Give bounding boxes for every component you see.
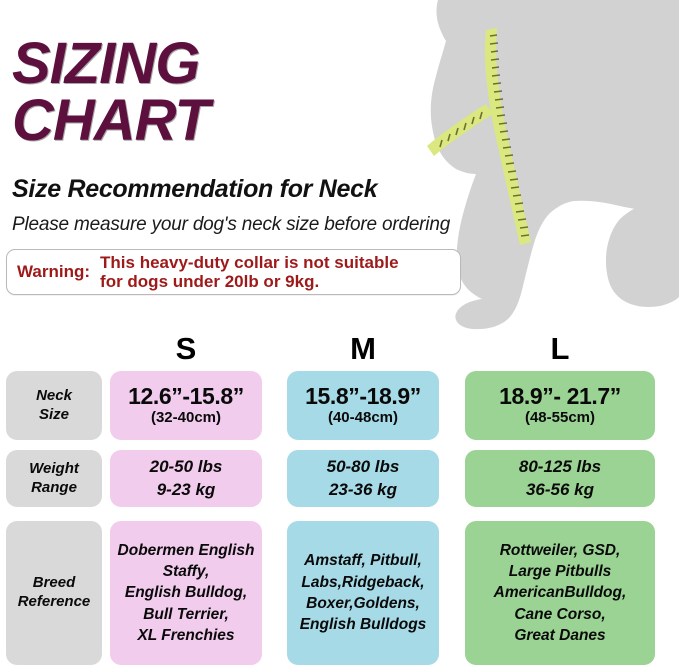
- cell-breed-reference-m-line-3: Boxer,Goldens,: [306, 593, 420, 614]
- warning-text-line-2: for dogs under 20lb or 9kg.: [100, 272, 399, 291]
- cell-weight-range-m: 50-80 lbs 23-36 kg: [287, 450, 439, 507]
- cell-breed-reference-l-line-5: Great Danes: [514, 625, 605, 646]
- cell-neck-size-m-main: 15.8”-18.9”: [305, 384, 421, 408]
- size-header-l: L: [465, 331, 655, 367]
- cell-neck-size-s-sub: (32-40cm): [151, 409, 221, 427]
- cell-breed-reference-l-line-1: Rottweiler, GSD,: [500, 540, 621, 561]
- row-label-breed-reference-line2: Reference: [18, 593, 91, 612]
- cell-neck-size-m: 15.8”-18.9” (40-48cm): [287, 371, 439, 440]
- cell-breed-reference-l-line-3: AmericanBulldog,: [494, 582, 627, 603]
- cell-weight-range-l: 80-125 lbs 36-56 kg: [465, 450, 655, 507]
- measuring-tape: [427, 28, 531, 245]
- size-header-row: S M L: [0, 331, 679, 365]
- size-header-m: M: [287, 331, 439, 367]
- cell-breed-reference-s: Dobermen English Staffy, English Bulldog…: [110, 521, 262, 665]
- dog-body-shape: [431, 0, 679, 330]
- cell-breed-reference-l: Rottweiler, GSD, Large Pitbulls American…: [465, 521, 655, 665]
- warning-text: This heavy-duty collar is not suitable f…: [90, 253, 399, 291]
- cell-weight-range-m-line2: 23-36 kg: [329, 479, 397, 501]
- cell-breed-reference-l-line-2: Large Pitbulls: [509, 561, 612, 582]
- measurement-note: Please measure your dog's neck size befo…: [12, 214, 450, 236]
- cell-weight-range-s: 20-50 lbs 9-23 kg: [110, 450, 262, 507]
- row-label-breed-reference: Breed Reference: [6, 521, 102, 665]
- sizing-chart-page: SIZING CHART Size Recommendation for Nec…: [0, 0, 679, 672]
- title-line-1: SIZING: [12, 36, 432, 93]
- row-label-neck-size-line1: Neck: [36, 387, 72, 406]
- cell-breed-reference-s-line-4: Bull Terrier,: [143, 604, 229, 625]
- cell-breed-reference-s-line-1: Dobermen English: [118, 540, 255, 561]
- cell-breed-reference-s-line-3: English Bulldog,: [125, 582, 247, 603]
- row-label-neck-size-line2: Size: [39, 406, 69, 425]
- warning-box: Warning: This heavy-duty collar is not s…: [6, 249, 461, 295]
- row-label-neck-size: Neck Size: [6, 371, 102, 440]
- cell-neck-size-s-main: 12.6”-15.8”: [128, 384, 244, 408]
- cell-weight-range-m-line1: 50-80 lbs: [327, 456, 400, 478]
- warning-text-line-1: This heavy-duty collar is not suitable: [100, 253, 399, 272]
- cell-weight-range-s-line2: 9-23 kg: [157, 479, 216, 501]
- cell-weight-range-l-line2: 36-56 kg: [526, 479, 594, 501]
- cell-breed-reference-l-line-4: Cane Corso,: [514, 604, 605, 625]
- row-label-breed-reference-line1: Breed: [33, 574, 76, 593]
- cell-weight-range-s-line1: 20-50 lbs: [150, 456, 223, 478]
- cell-breed-reference-s-line-5: XL Frenchies: [137, 625, 234, 646]
- title-line-2: CHART: [12, 93, 432, 150]
- cell-neck-size-s: 12.6”-15.8” (32-40cm): [110, 371, 262, 440]
- cell-breed-reference-m: Amstaff, Pitbull, Labs,Ridgeback, Boxer,…: [287, 521, 439, 665]
- cell-neck-size-l-main: 18.9”- 21.7”: [499, 384, 621, 408]
- warning-label: Warning:: [7, 262, 90, 282]
- cell-weight-range-l-line1: 80-125 lbs: [519, 456, 601, 478]
- page-title: SIZING CHART: [12, 36, 432, 150]
- cell-breed-reference-s-line-2: Staffy,: [163, 561, 210, 582]
- row-label-weight-range-line2: Range: [31, 479, 77, 498]
- cell-breed-reference-m-line-1: Amstaff, Pitbull,: [304, 550, 422, 571]
- cell-breed-reference-m-line-4: English Bulldogs: [300, 614, 427, 635]
- cell-neck-size-m-sub: (40-48cm): [328, 409, 398, 427]
- tape-tick-marks: [440, 35, 529, 236]
- size-header-s: S: [110, 331, 262, 367]
- cell-neck-size-l-sub: (48-55cm): [525, 409, 595, 427]
- page-subtitle: Size Recommendation for Neck: [12, 175, 377, 204]
- cell-neck-size-l: 18.9”- 21.7” (48-55cm): [465, 371, 655, 440]
- cell-breed-reference-m-line-2: Labs,Ridgeback,: [301, 572, 424, 593]
- row-label-weight-range-line1: Weight: [29, 460, 79, 479]
- row-label-weight-range: Weight Range: [6, 450, 102, 507]
